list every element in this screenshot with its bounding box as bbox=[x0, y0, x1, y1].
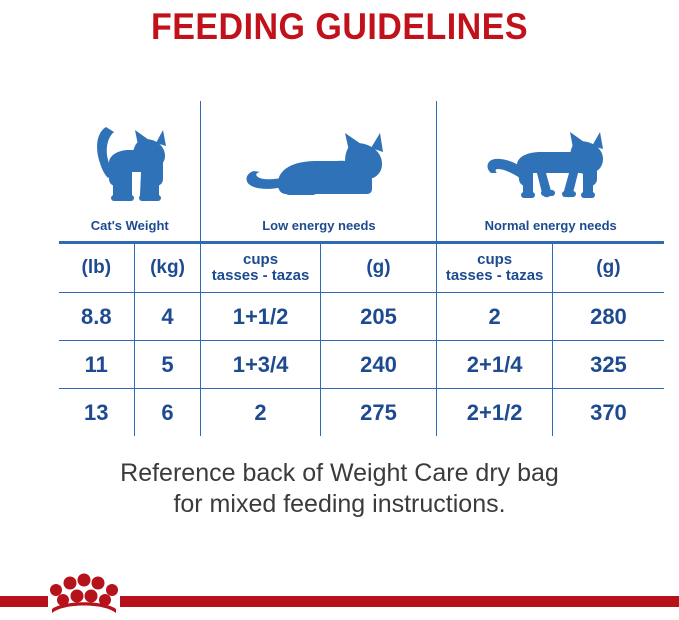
subheader-normal-cups: cups tasses - tazas bbox=[437, 243, 553, 293]
cell-low-grams: 240 bbox=[320, 341, 437, 389]
cell-weight-lb: 11 bbox=[58, 341, 135, 389]
cell-normal-grams: 325 bbox=[552, 341, 665, 389]
cell-normal-cups: 2 bbox=[437, 293, 553, 341]
group-header-normal-energy: Normal energy needs bbox=[437, 100, 666, 243]
feeding-guidelines-table-wrapper: Cat's Weight bbox=[56, 98, 667, 434]
subheader-low-cups-line1: cups bbox=[201, 252, 319, 268]
cat-standing-icon bbox=[83, 117, 177, 214]
subheader-normal-cups-line2: tasses - tazas bbox=[437, 268, 552, 284]
footer-note-line1: Reference back of Weight Care dry bag bbox=[0, 458, 679, 489]
cat-walking-icon bbox=[485, 121, 617, 214]
cell-weight-lb: 8.8 bbox=[58, 293, 135, 341]
page-title: FEEDING GUIDELINES bbox=[27, 0, 652, 45]
subheader-kg: (kg) bbox=[134, 243, 201, 293]
cat-lying-icon bbox=[244, 121, 394, 214]
table-subheader-row: (lb) (kg) cups tasses - tazas (g) cups t… bbox=[58, 243, 666, 293]
subheader-lb-label: (lb) bbox=[82, 257, 112, 278]
subheader-low-grams-label: (g) bbox=[366, 257, 390, 278]
cell-weight-kg: 6 bbox=[134, 389, 201, 438]
brand-bar-right bbox=[120, 596, 679, 607]
cell-weight-lb: 13 bbox=[58, 389, 135, 438]
cell-low-cups: 2 bbox=[201, 389, 320, 438]
footer-note-line2: for mixed feeding instructions. bbox=[0, 489, 679, 520]
table-row: 11 5 1+3/4 240 2+1/4 325 bbox=[58, 341, 666, 389]
group-label-cat-weight: Cat's Weight bbox=[91, 218, 169, 233]
cell-normal-cups: 2+1/4 bbox=[437, 341, 553, 389]
cell-normal-grams: 370 bbox=[552, 389, 665, 438]
cell-weight-kg: 4 bbox=[134, 293, 201, 341]
cell-low-grams: 275 bbox=[320, 389, 437, 438]
table-icon-header-row: Cat's Weight bbox=[58, 100, 666, 243]
group-label-low-energy: Low energy needs bbox=[262, 218, 375, 233]
brand-footer bbox=[0, 563, 679, 615]
cell-low-cups: 1+3/4 bbox=[201, 341, 320, 389]
group-header-low-energy: Low energy needs bbox=[201, 100, 437, 243]
cell-normal-grams: 280 bbox=[552, 293, 665, 341]
subheader-normal-cups-line1: cups bbox=[437, 252, 552, 268]
table-row: 13 6 2 275 2+1/2 370 bbox=[58, 389, 666, 438]
subheader-normal-grams: (g) bbox=[552, 243, 665, 293]
brand-bar-left bbox=[0, 596, 48, 607]
subheader-low-cups-line2: tasses - tazas bbox=[201, 268, 319, 284]
subheader-low-grams: (g) bbox=[320, 243, 437, 293]
subheader-low-cups: cups tasses - tazas bbox=[201, 243, 320, 293]
royal-canin-crown-logo bbox=[46, 569, 122, 615]
group-label-normal-energy: Normal energy needs bbox=[485, 218, 617, 233]
footer-note: Reference back of Weight Care dry bag fo… bbox=[0, 458, 679, 519]
table-row: 8.8 4 1+1/2 205 2 280 bbox=[58, 293, 666, 341]
cell-normal-cups: 2+1/2 bbox=[437, 389, 553, 438]
subheader-kg-label: (kg) bbox=[150, 257, 185, 278]
feeding-guidelines-table: Cat's Weight bbox=[56, 98, 667, 439]
subheader-normal-grams-label: (g) bbox=[596, 257, 620, 278]
cell-low-cups: 1+1/2 bbox=[201, 293, 320, 341]
cell-weight-kg: 5 bbox=[134, 341, 201, 389]
group-header-cat-weight: Cat's Weight bbox=[58, 100, 201, 243]
cell-low-grams: 205 bbox=[320, 293, 437, 341]
subheader-lb: (lb) bbox=[58, 243, 135, 293]
